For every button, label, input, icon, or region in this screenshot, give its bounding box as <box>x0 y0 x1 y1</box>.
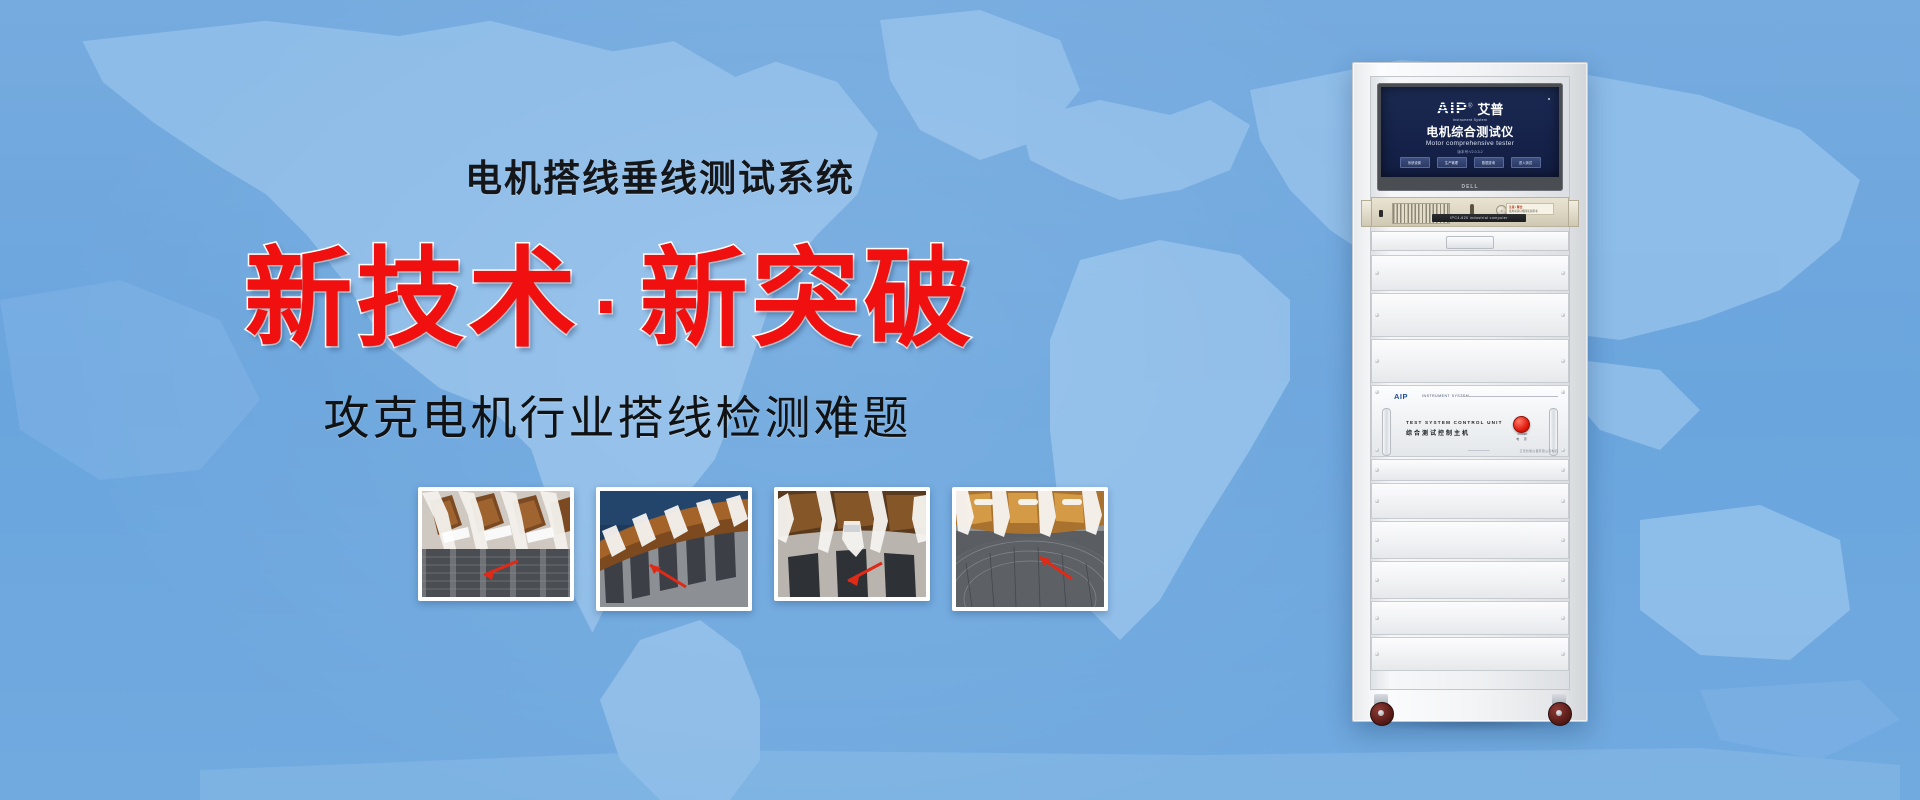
ipc-power-switch[interactable] <box>1379 210 1383 217</box>
control-unit-brand: AIP <box>1394 392 1408 401</box>
registered-mark-icon: ® <box>1468 104 1472 110</box>
caster-hub-left <box>1378 710 1384 716</box>
drawer-handle[interactable] <box>1446 236 1494 249</box>
banner-eyebrow-text: 电机搭线垂线测试系统 <box>325 158 855 199</box>
control-unit-screw-tr <box>1561 390 1565 394</box>
screen-button-query[interactable]: 数据查询 <box>1474 157 1504 168</box>
rack-drawer[interactable] <box>1371 231 1569 251</box>
rack-ear-left <box>1361 200 1372 227</box>
blank-panel-3 <box>1371 339 1569 383</box>
test-system-control-unit: AIP INSTRUMENT SYSTEM TEST SYSTEM CONTRO… <box>1371 385 1569 457</box>
caster-wheel-left <box>1370 694 1392 728</box>
screen-title-cn: 电机综合测试仪 <box>1381 123 1559 140</box>
control-unit-screw-br <box>1561 448 1565 452</box>
test-equipment-cabinet: AIP®艾普 Instrument System 电机综合测试仪 Motor c… <box>1352 62 1588 722</box>
caster-wheel-right <box>1548 694 1570 728</box>
headline-left-text: 新技术 <box>244 238 580 359</box>
screen-button-settings[interactable]: 系统设置 <box>1400 157 1430 168</box>
stator-photo-3 <box>778 491 926 597</box>
monitor-bezel: AIP®艾普 Instrument System 电机综合测试仪 Motor c… <box>1377 83 1563 191</box>
monitor-brand-badge: DELL <box>1377 184 1563 190</box>
control-unit-screw-tl <box>1375 390 1379 394</box>
screen-title-en: Motor comprehensive tester <box>1381 140 1559 147</box>
blank-panel-7 <box>1371 561 1569 599</box>
ipc-model-label: IPC4-620 industrial computer <box>1432 214 1526 222</box>
screen-button-start-test[interactable]: 进入测试 <box>1511 157 1541 168</box>
screen-button-row: 系统设置 生产管理 数据查询 进入测试 <box>1381 157 1559 168</box>
banner-eyebrow: 电机搭线垂线测试系统 <box>0 160 1180 197</box>
screen-logo-block: AIP®艾普 Instrument System 电机综合测试仪 Motor c… <box>1381 99 1559 155</box>
control-unit-title-cn: 综合测试控制主机 <box>1406 428 1470 437</box>
blank-panel-4 <box>1371 459 1569 481</box>
brand-en-text: Instrument System <box>1381 118 1559 122</box>
brand-cn-text: 艾普 <box>1477 102 1503 117</box>
blank-panel-8 <box>1371 601 1569 635</box>
banner-stage: 电机搭线垂线测试系统 新技术·新突破 攻克电机行业搭线检测难题 <box>0 0 1920 800</box>
control-unit-footer-rule <box>1468 450 1490 451</box>
control-unit-handle-left[interactable] <box>1382 408 1391 456</box>
control-unit-title-en: TEST SYSTEM CONTROL UNIT <box>1406 420 1503 425</box>
thumbnail-strip <box>418 487 1108 611</box>
blank-panel-9 <box>1371 637 1569 671</box>
caster-hub-right <box>1556 710 1562 716</box>
monitor-screen[interactable]: AIP®艾普 Instrument System 电机综合测试仪 Motor c… <box>1381 87 1559 177</box>
control-unit-footer-text: 艾普智能仪器有限公司制造 <box>1520 449 1558 453</box>
thumbnail-4[interactable] <box>952 487 1108 611</box>
power-button-label: POWER <box>1510 433 1535 436</box>
power-button-label-cn: 电 源 <box>1510 437 1535 441</box>
headline-right-text: 新突破 <box>640 238 976 359</box>
thumbnail-3[interactable] <box>774 487 930 601</box>
industrial-computer-unit: ① 注意 / 警告 使用前请仔细阅读说明书 IPC4-620 industria… <box>1371 197 1569 227</box>
blank-panel-6 <box>1371 521 1569 559</box>
banner-subline: 攻克电机行业搭线检测难题 <box>0 395 1180 441</box>
blank-panel-5 <box>1371 483 1569 519</box>
control-unit-screw-bl <box>1375 448 1379 452</box>
stator-photo-2 <box>600 491 748 607</box>
banner-text-column: 电机搭线垂线测试系统 新技术·新突破 攻克电机行业搭线检测难题 <box>0 0 1180 800</box>
banner-headline: 新技术·新突破 <box>0 245 1180 353</box>
banner-subline-text: 攻克电机行业搭线检测难题 <box>324 392 912 444</box>
stator-photo-4 <box>956 491 1104 607</box>
blank-panel-2 <box>1371 293 1569 337</box>
screen-version-text: 版本号:V2.0.3.2 <box>1381 150 1559 155</box>
headline-separator-dot: · <box>580 261 639 352</box>
blank-panel-1 <box>1371 255 1569 291</box>
thumbnail-2[interactable] <box>596 487 752 611</box>
thumbnail-1[interactable] <box>418 487 574 601</box>
screen-button-production[interactable]: 生产管理 <box>1437 157 1467 168</box>
ipc-warning-text: 使用前请仔细阅读说明书 <box>1509 209 1553 213</box>
cabinet-rack: AIP®艾普 Instrument System 电机综合测试仪 Motor c… <box>1370 76 1570 690</box>
rack-ear-right <box>1568 200 1579 227</box>
aip-logo-text: AIP <box>1437 99 1468 119</box>
control-unit-rule <box>1460 396 1558 397</box>
power-button[interactable] <box>1513 416 1530 433</box>
stator-photo-1 <box>422 491 570 597</box>
